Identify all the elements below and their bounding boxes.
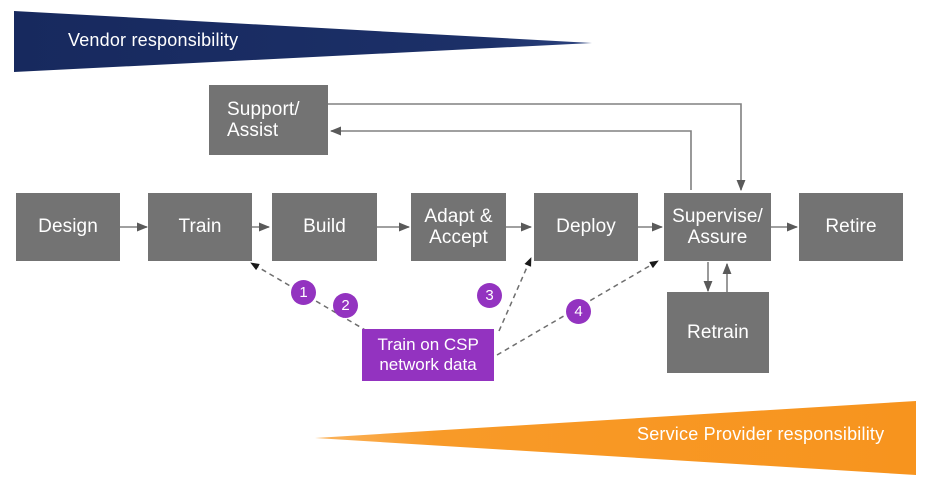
step-badge-1[interactable]: 1 [291, 280, 316, 305]
node-retrain-label: Retrain [687, 322, 749, 343]
connector-support-to-supervise [328, 104, 741, 190]
step-badge-1-label: 1 [299, 284, 307, 301]
node-retire[interactable]: Retire [799, 193, 903, 261]
node-build-label: Build [303, 216, 346, 237]
node-train[interactable]: Train [148, 193, 252, 261]
step-badge-4[interactable]: 4 [566, 299, 591, 324]
node-design-label: Design [38, 216, 98, 237]
dashed-connector-csp-to-deploy [499, 258, 531, 331]
node-adapt-accept-label-line1: Adapt & [424, 206, 492, 227]
node-retire-label: Retire [825, 216, 876, 237]
node-retrain[interactable]: Retrain [667, 292, 769, 373]
node-deploy-label: Deploy [556, 216, 616, 237]
callout-label-line1: Train on CSP [377, 335, 478, 354]
node-design[interactable]: Design [16, 193, 120, 261]
step-badge-2[interactable]: 2 [333, 293, 358, 318]
callout-label-line2: network data [379, 355, 476, 374]
connector-supervise-to-support [331, 131, 691, 190]
node-adapt-accept-label-line2: Accept [424, 227, 492, 248]
node-supervise-assure-label-line2: Assure [672, 227, 763, 248]
vendor-responsibility-label: Vendor responsibility [68, 30, 238, 51]
callout-train-on-csp-network-data[interactable]: Train on CSP network data [362, 329, 494, 381]
diagram-canvas: Vendor responsibility Service Provider r… [0, 0, 930, 490]
node-deploy[interactable]: Deploy [534, 193, 638, 261]
node-adapt-accept[interactable]: Adapt & Accept [411, 193, 506, 261]
service-provider-responsibility-label: Service Provider responsibility [637, 424, 884, 445]
node-build[interactable]: Build [272, 193, 377, 261]
step-badge-3[interactable]: 3 [477, 283, 502, 308]
node-train-label: Train [178, 216, 221, 237]
node-support-assist-label-line1: Support/ [227, 99, 300, 120]
step-badge-4-label: 4 [574, 303, 582, 320]
node-support-assist-label-line2: Assist [227, 120, 300, 141]
step-badge-2-label: 2 [341, 297, 349, 314]
node-supervise-assure[interactable]: Supervise/ Assure [664, 193, 771, 261]
step-badge-3-label: 3 [485, 287, 493, 304]
node-support-assist[interactable]: Support/ Assist [209, 85, 328, 155]
node-supervise-assure-label-line1: Supervise/ [672, 206, 763, 227]
